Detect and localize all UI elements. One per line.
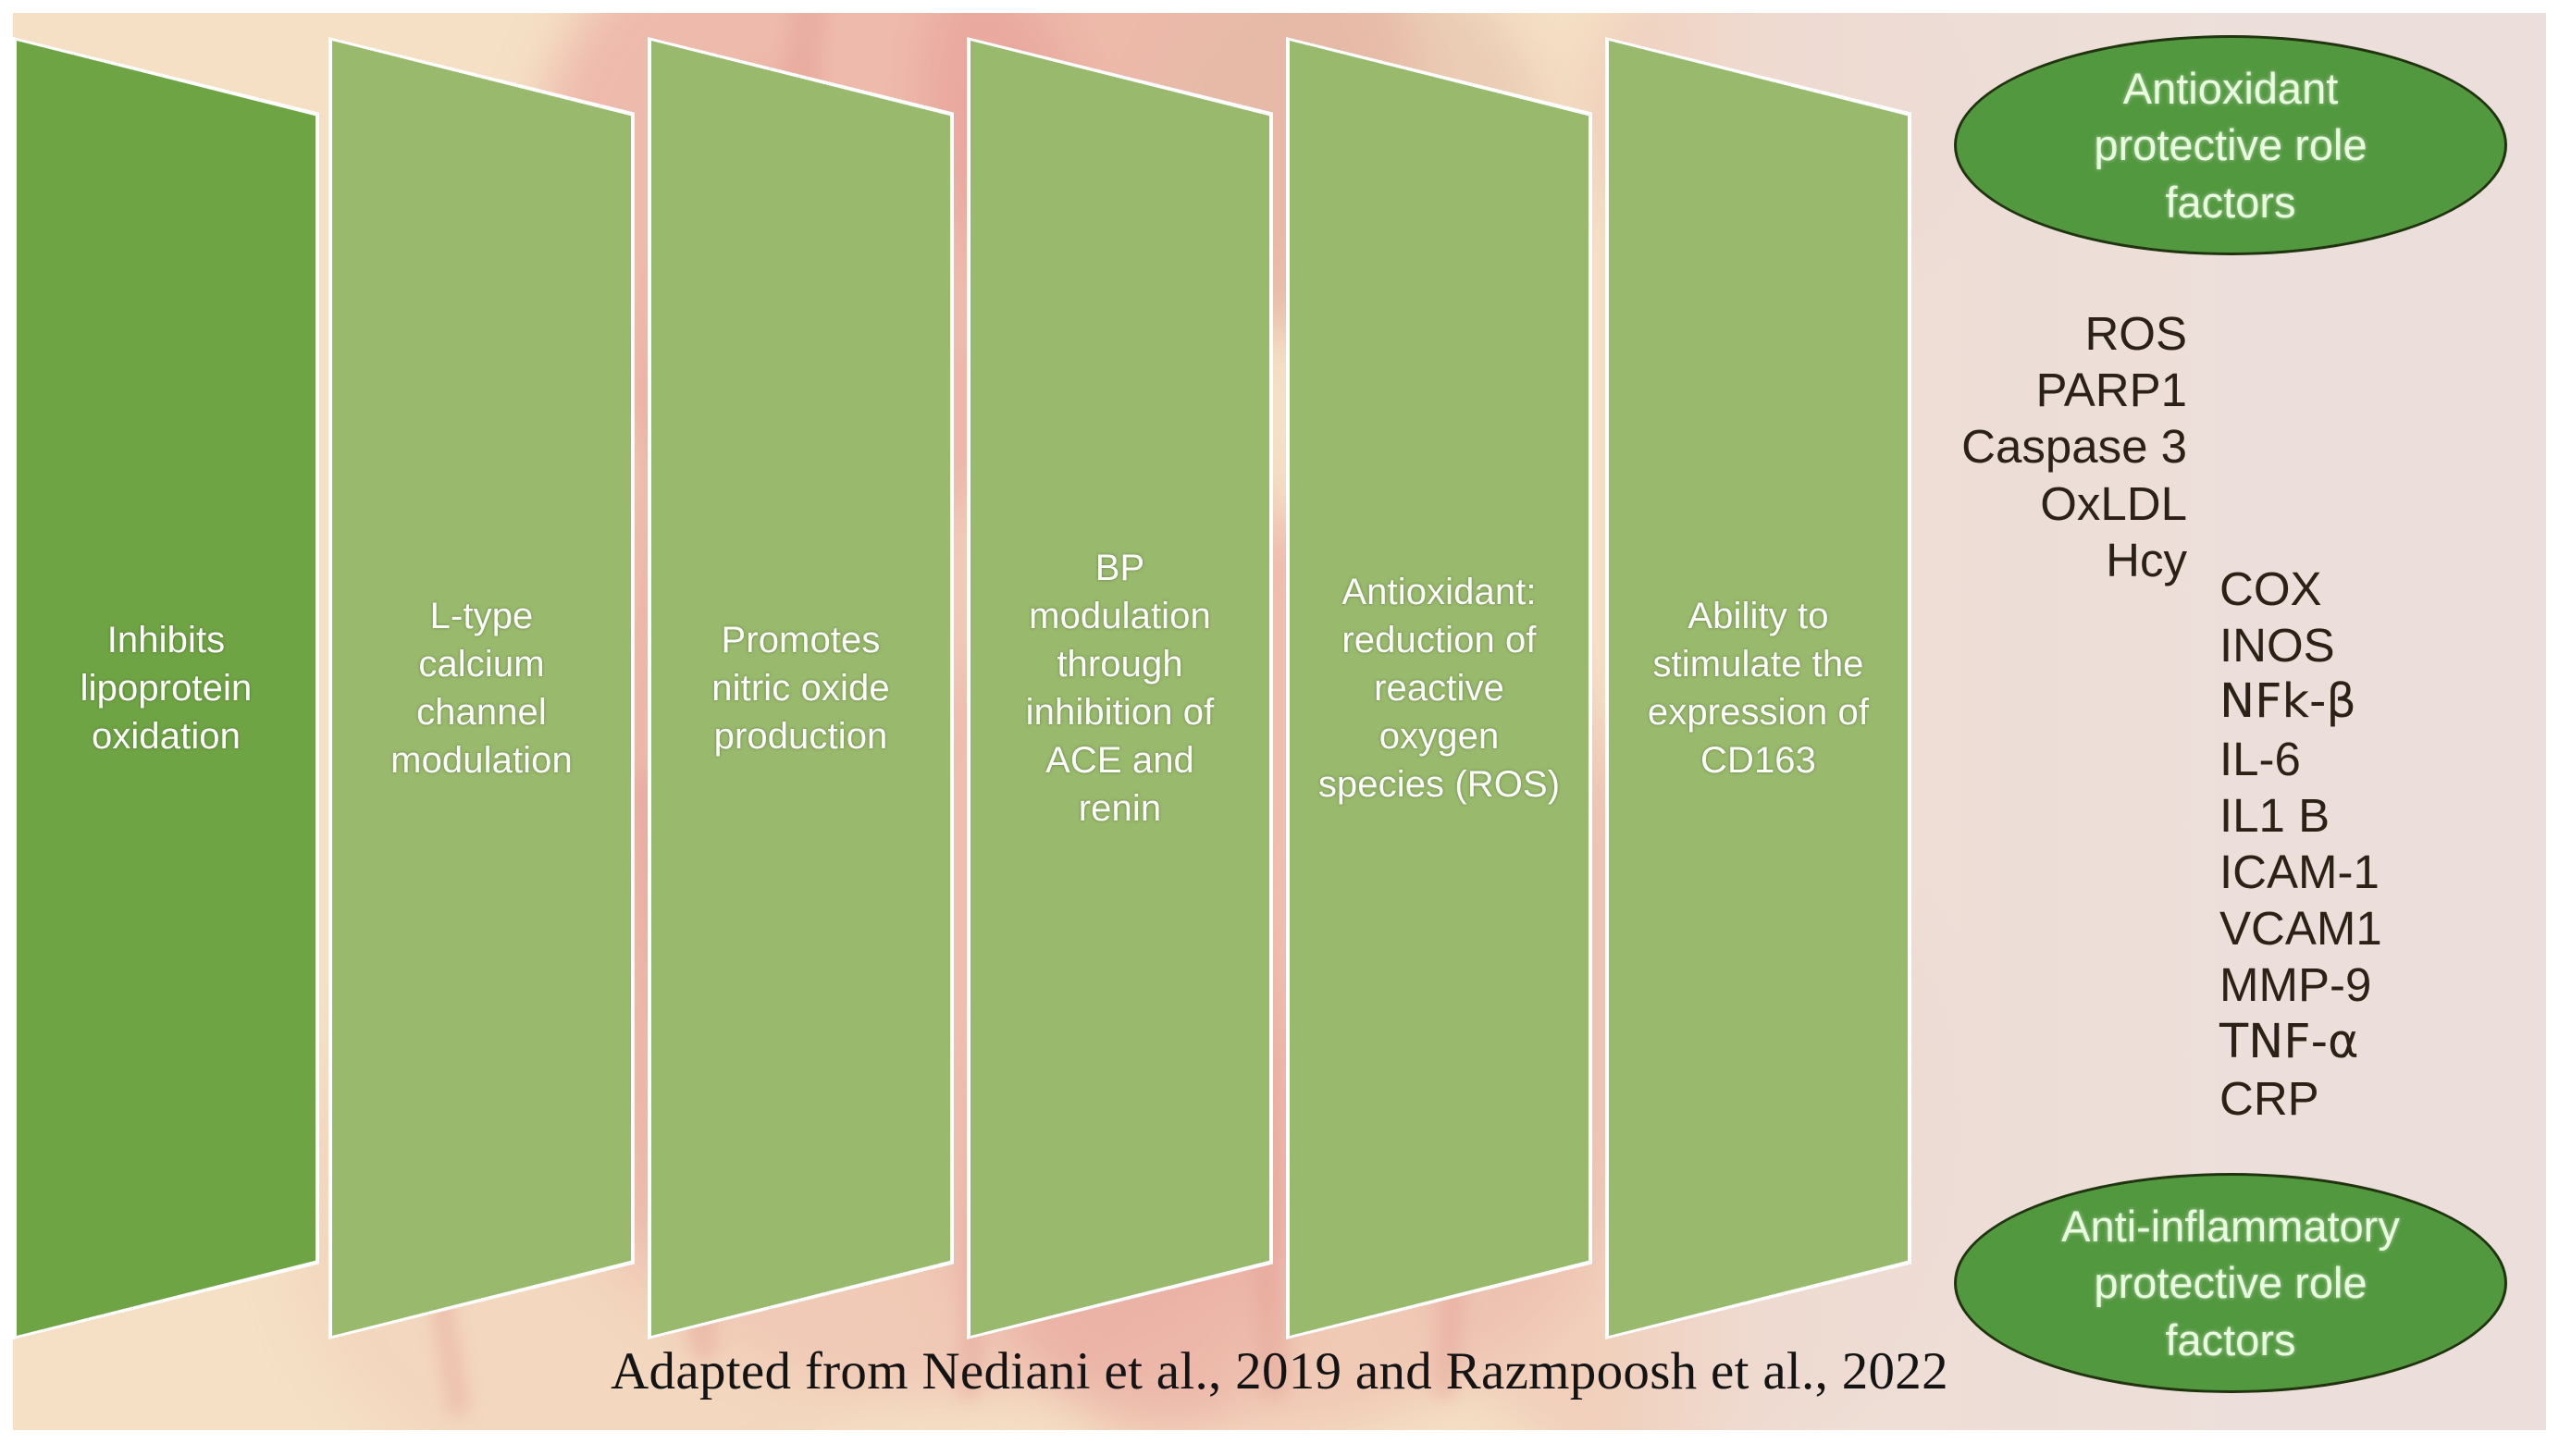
marker-item: ICAM-1 (2219, 844, 2525, 900)
chevron-antioxidant-reduction-of-ros[interactable]: Antioxidant: reduction of reactive oxyge… (1290, 41, 1589, 1336)
chevron-label: BP modulation through inhibition of ACE … (970, 544, 1269, 833)
chevron-promotes-nitric-oxide-production[interactable]: Promotes nitric oxide production (651, 41, 950, 1336)
marker-item: Hcy (1863, 532, 2187, 588)
marker-item: PARP1 (1863, 362, 2187, 418)
background-heart-illustration: Inhibits lipoprotein oxidation L-type ca… (13, 13, 2546, 1430)
chevron-l-type-calcium-channel-modulation[interactable]: L-type calcium channel modulation (332, 41, 631, 1336)
marker-item: IL1 B (2219, 787, 2525, 844)
marker-item: NFk-β (2219, 673, 2525, 730)
marker-item: CRP (2219, 1070, 2525, 1127)
chevron-label: Promotes nitric oxide production (651, 616, 950, 760)
chevron-bp-modulation-ace-renin[interactable]: BP modulation through inhibition of ACE … (970, 41, 1269, 1336)
oval-antioxidant-protective-role-factors[interactable]: Antioxidant protective role factors (1954, 35, 2507, 255)
marker-item: ROS (1863, 305, 2187, 362)
chevron-label: Ability to stimulate the expression of C… (1609, 592, 1908, 784)
marker-item: COX (2219, 561, 2525, 617)
figure-caption: Adapted from Nediani et al., 2019 and Ra… (13, 1341, 2546, 1401)
marker-item: Caspase 3 (1863, 418, 2187, 475)
marker-item: TNF-α (2219, 1014, 2525, 1070)
marker-item: OxLDL (1863, 475, 2187, 532)
marker-item: MMP-9 (2219, 956, 2525, 1013)
marker-list-antioxidant-factors: ROS PARP1 Caspase 3 OxLDL Hcy (1863, 305, 2187, 588)
marker-item: INOS (2219, 617, 2525, 673)
figure-canvas: Inhibits lipoprotein oxidation L-type ca… (0, 0, 2559, 1456)
marker-item: VCAM1 (2219, 900, 2525, 956)
marker-list-anti-inflammatory-factors: COX INOS NFk-β IL-6 IL1 B ICAM-1 VCAM1 M… (2219, 561, 2525, 1127)
chevron-stimulate-cd163-expression[interactable]: Ability to stimulate the expression of C… (1609, 41, 1908, 1336)
chevron-inhibits-lipoprotein-oxidation[interactable]: Inhibits lipoprotein oxidation (17, 41, 315, 1336)
marker-item: IL-6 (2219, 731, 2525, 787)
chevron-label: Inhibits lipoprotein oxidation (17, 616, 315, 760)
chevron-label: L-type calcium channel modulation (332, 592, 631, 784)
chevron-label: Antioxidant: reduction of reactive oxyge… (1290, 568, 1589, 808)
oval-label: Antioxidant protective role factors (2094, 60, 2367, 229)
